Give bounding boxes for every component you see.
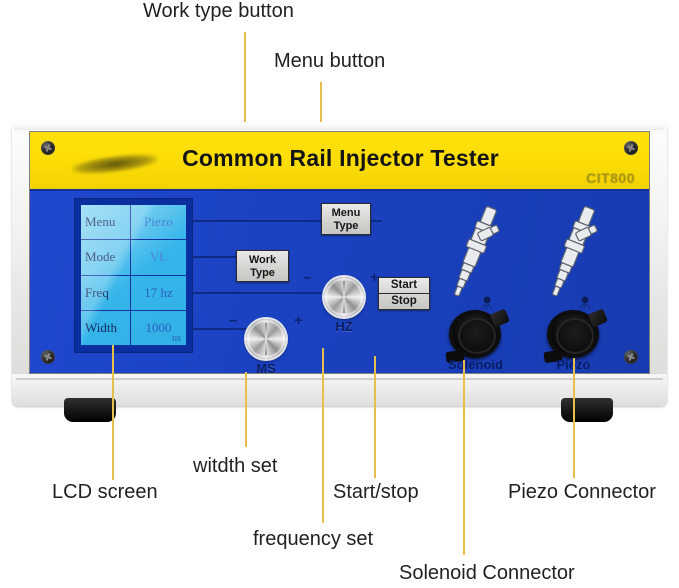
ms-plus-marker: + — [294, 312, 303, 329]
lcd-value-menu: Piezo — [131, 205, 186, 239]
menu-type-label-line1: Menu — [322, 207, 370, 220]
screw-bottom-right — [624, 350, 638, 364]
front-panel: Common Rail Injector Tester CIT800 Menu … — [29, 131, 650, 374]
hz-plus-marker: + — [370, 269, 379, 286]
ms-knob-label: MS — [246, 361, 286, 374]
ms-knob-group[interactable]: MS — [246, 319, 286, 359]
lcd-screen[interactable]: Menu Piezo Mode VL Freq 17 hz Width 1000… — [75, 199, 192, 352]
lcd-display: Menu Piezo Mode VL Freq 17 hz Width 1000… — [80, 204, 187, 347]
annotation-solenoid-connector: Solenoid Connector — [399, 562, 575, 585]
leader-start-stop — [374, 356, 376, 478]
hz-knob-group[interactable]: HZ — [324, 277, 364, 317]
lcd-value-width-unit: us — [172, 333, 181, 344]
leader-width-set — [245, 372, 247, 447]
annotation-piezo-connector: Piezo Connector — [508, 481, 656, 504]
device-top-edge — [14, 123, 665, 130]
injector-tester-device: Common Rail Injector Tester CIT800 Menu … — [12, 122, 667, 412]
screw-top-right — [624, 141, 638, 155]
lcd-row-width: Width 1000 us — [81, 311, 186, 346]
lcd-value-freq: 17 hz — [131, 276, 186, 310]
piezo-injector-icon — [532, 203, 612, 309]
lcd-row-freq: Freq 17 hz — [81, 276, 186, 311]
lcd-label-menu: Menu — [81, 205, 131, 239]
start-label: Start — [379, 278, 429, 294]
piezo-connector-ring — [556, 318, 594, 354]
leader-solenoid-connector — [463, 360, 465, 555]
solenoid-connector-ring — [458, 318, 496, 354]
hz-knob-label: HZ — [324, 319, 364, 334]
piezo-connector[interactable]: Piezo — [547, 307, 604, 361]
lcd-label-freq: Freq — [81, 276, 131, 310]
lcd-row-menu: Menu Piezo — [81, 205, 186, 240]
start-stop-button[interactable]: Start Stop — [378, 277, 430, 310]
hz-minus-marker: – — [303, 269, 311, 286]
menu-type-button[interactable]: Menu Type — [321, 203, 371, 235]
ms-knob[interactable] — [246, 319, 286, 359]
solenoid-connector-label: Solenoid — [447, 357, 504, 372]
stop-label: Stop — [379, 294, 429, 309]
ms-minus-marker: – — [229, 312, 237, 329]
annotation-work-type-button: Work type button — [143, 0, 294, 23]
lcd-value-width-number: 1000 — [146, 320, 172, 336]
lcd-label-width: Width — [81, 311, 131, 345]
page-title: Common Rail Injector Tester — [30, 145, 650, 172]
wire-freq-row — [192, 292, 342, 294]
annotation-width-set: witdth set — [193, 455, 277, 478]
device-foot-left — [64, 398, 116, 422]
work-type-button[interactable]: Work Type — [236, 250, 289, 282]
lcd-value-width: 1000 us — [131, 311, 186, 345]
annotation-lcd-screen: LCD screen — [52, 481, 158, 504]
lcd-label-mode: Mode — [81, 240, 131, 274]
annotation-start-stop: Start/stop — [333, 481, 419, 504]
header-band: Common Rail Injector Tester CIT800 — [30, 132, 650, 191]
work-type-label-line2: Type — [237, 267, 288, 280]
screw-bottom-left — [41, 350, 55, 364]
annotation-menu-button: Menu button — [274, 50, 385, 73]
leader-piezo-connector — [573, 358, 575, 478]
lcd-value-mode: VL — [131, 240, 186, 274]
solenoid-connector[interactable]: Solenoid — [449, 307, 506, 361]
model-number: CIT800 — [586, 170, 635, 186]
leader-lcd-screen — [112, 345, 114, 480]
work-type-label-line1: Work — [237, 254, 288, 267]
device-foot-right — [561, 398, 613, 422]
hz-knob[interactable] — [324, 277, 364, 317]
annotation-frequency-set: frequency set — [253, 528, 373, 551]
menu-type-label-line2: Type — [322, 220, 370, 233]
leader-frequency-set — [322, 348, 324, 523]
lcd-row-mode: Mode VL — [81, 240, 186, 275]
screw-top-left — [41, 141, 55, 155]
solenoid-injector-icon — [434, 203, 514, 309]
